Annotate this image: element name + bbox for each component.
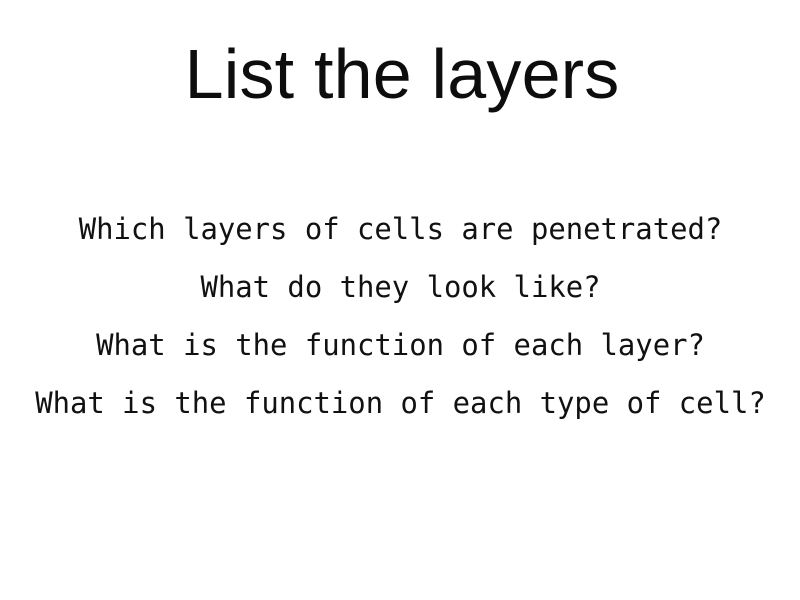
page-title: List the layers: [0, 34, 800, 114]
body-line-1: Which layers of cells are penetrated?: [0, 200, 800, 258]
body-line-4: What is the function of each type of cel…: [0, 374, 800, 432]
body-line-3: What is the function of each layer?: [0, 316, 800, 374]
slide-canvas: List the layers Which layers of cells ar…: [0, 0, 800, 600]
body-line-2: What do they look like?: [0, 258, 800, 316]
slide-body-text-block: Which layers of cells are penetrated? Wh…: [0, 200, 800, 432]
